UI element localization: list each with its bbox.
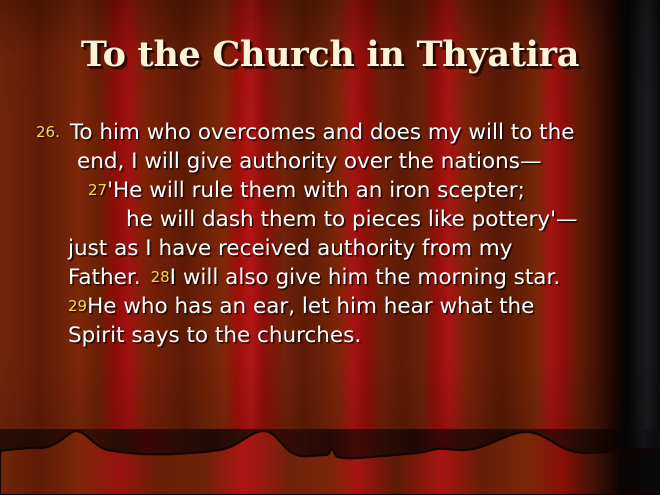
text-line-5: just as I have received authority from m… — [0, 234, 660, 263]
text-line-8-content: Spirit says to the churches. — [68, 323, 361, 348]
text-line-6-content: Father. — [68, 265, 141, 290]
text-line-3-content: 'He will rule them with an iron scepter; — [107, 178, 525, 203]
text-line-8: Spirit says to the churches. — [0, 321, 660, 350]
text-line-7: 29He who has an ear, let him hear what t… — [0, 292, 660, 321]
verse-number-26: 26. — [36, 123, 60, 141]
verse-number-28: 28 — [151, 268, 170, 286]
text-line-2: end, I will give authority over the nati… — [0, 147, 660, 176]
text-line-1-content: To him who overcomes and does my will to… — [70, 120, 575, 145]
text-line-6-content-after: I will also give him the morning star. — [170, 265, 561, 290]
text-line-5-content: just as I have received authority from m… — [68, 236, 512, 261]
verse-number-27: 27 — [88, 181, 107, 199]
slide-body-text: 26.To him who overcomes and does my will… — [0, 118, 660, 350]
text-line-7-content: He who has an ear, let him hear what the — [87, 294, 534, 319]
text-line-2-content: end, I will give authority over the nati… — [77, 149, 542, 174]
page-title: To the Church in Thyatira — [0, 34, 660, 75]
presentation-slide: To the Church in Thyatira 26.To him who … — [0, 0, 660, 495]
text-line-1: 26.To him who overcomes and does my will… — [0, 118, 660, 147]
verse-number-29: 29 — [68, 297, 87, 315]
text-line-6: Father.28I will also give him the mornin… — [0, 263, 660, 292]
text-line-3: 27'He will rule them with an iron scepte… — [0, 176, 660, 205]
text-line-4-content: he will dash them to pieces like pottery… — [126, 207, 577, 232]
curtain-hem-wave — [0, 405, 660, 495]
text-line-4: he will dash them to pieces like pottery… — [0, 205, 660, 234]
